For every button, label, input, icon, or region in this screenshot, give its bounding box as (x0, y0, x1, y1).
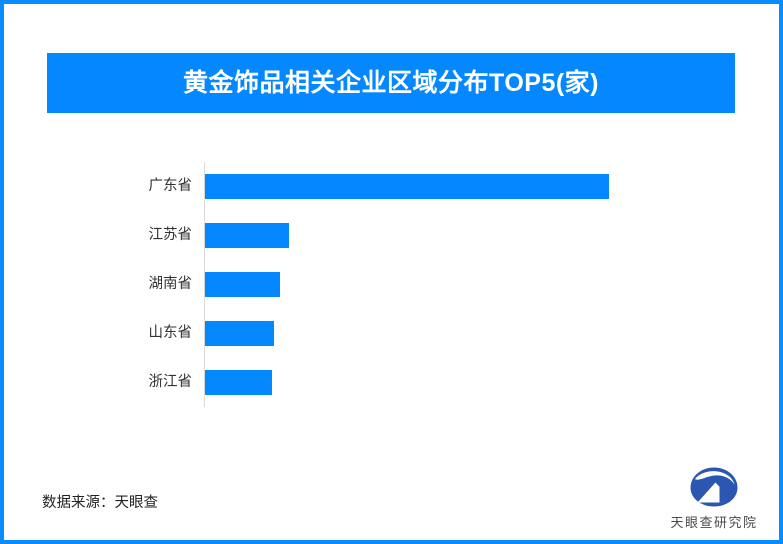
bar-label-hunan: 湖南省 (47, 277, 192, 292)
bar-track (205, 223, 289, 248)
bar-track (205, 174, 609, 199)
bar-row: 广东省 (47, 162, 735, 211)
bar-shandong[interactable] (205, 321, 274, 346)
bar-row: 湖南省 (47, 260, 735, 309)
logo-wordmark: 天眼查研究院 (670, 512, 757, 531)
bar-row: 浙江省 (47, 358, 735, 407)
bar-chart: 广东省 江苏省 湖南省 山东省 (47, 154, 735, 414)
bar-guangdong[interactable] (205, 174, 609, 199)
bar-label-shandong: 山东省 (47, 326, 192, 341)
tianyancha-arch-logo-icon (688, 466, 740, 508)
chart-page: 黄金饰品相关企业区域分布TOP5(家) 广东省 江苏省 湖南省 (0, 0, 783, 544)
bar-label-zhejiang: 浙江省 (47, 375, 192, 390)
bar-track (205, 272, 280, 297)
bar-jiangsu[interactable] (205, 223, 289, 248)
bar-label-guangdong: 广东省 (47, 179, 192, 194)
bar-row: 江苏省 (47, 211, 735, 260)
data-source-note: 数据来源：天眼查 (42, 491, 158, 512)
bar-hunan[interactable] (205, 272, 280, 297)
brand-logo: 天眼查研究院 (654, 466, 774, 538)
page-title: 黄金饰品相关企业区域分布TOP5(家) (183, 71, 599, 96)
bar-track (205, 370, 272, 395)
bar-label-jiangsu: 江苏省 (47, 228, 192, 243)
bar-track (205, 321, 274, 346)
bar-row: 山东省 (47, 309, 735, 358)
chart-title-banner: 黄金饰品相关企业区域分布TOP5(家) (47, 53, 735, 113)
bar-zhejiang[interactable] (205, 370, 272, 395)
bar-rows: 广东省 江苏省 湖南省 山东省 (47, 162, 735, 407)
